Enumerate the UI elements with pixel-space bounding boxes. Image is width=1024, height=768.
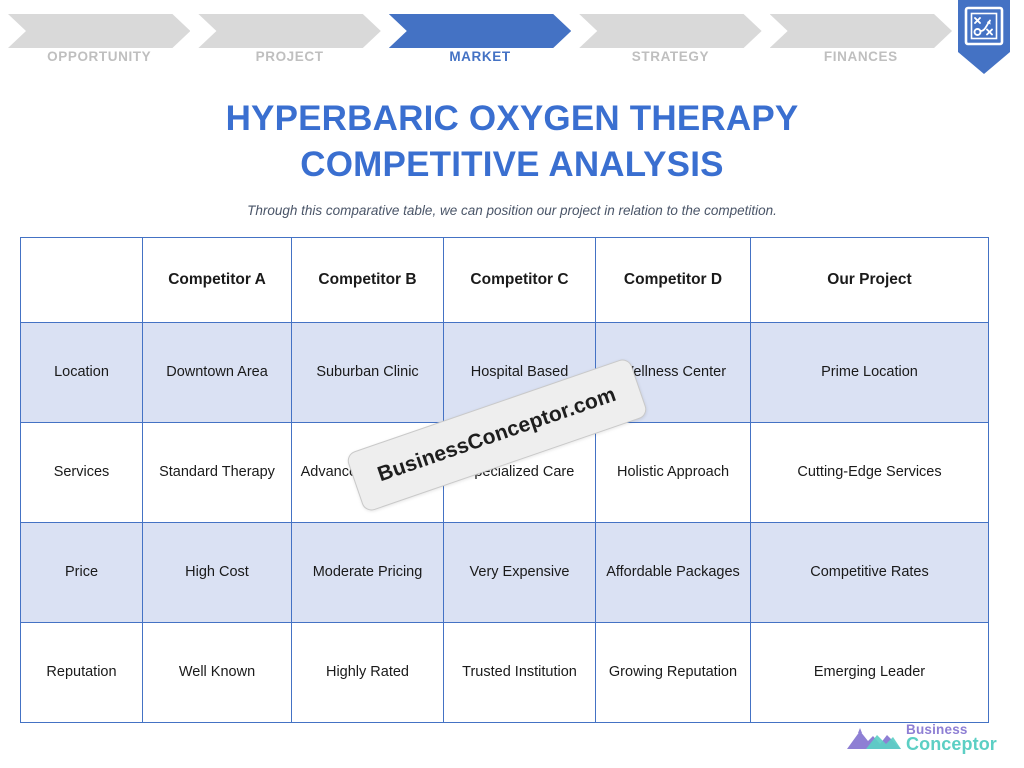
page-title: HYPERBARIC OXYGEN THERAPY COMPETITIVE AN… [62,96,962,188]
cell-services-competitor-b: Advanced Treatment [292,423,444,523]
table-corner-cell [21,238,143,323]
table-header-row: Competitor A Competitor B Competitor C C… [21,238,989,323]
stepper-labels: OPPORTUNITY PROJECT MARKET STRATEGY FINA… [8,46,952,68]
cell-services-competitor-c: Specialized Care [444,423,596,523]
row-header-services: Services [21,423,143,523]
stepper-chevron-market[interactable] [389,14,571,48]
stepper-label-strategy[interactable]: STRATEGY [579,46,761,68]
column-header-competitor-b: Competitor B [292,238,444,323]
page-title-line2: COMPETITIVE ANALYSIS [62,142,962,188]
cell-location-competitor-d: Wellness Center [596,323,751,423]
cell-reputation-our-project: Emerging Leader [751,623,989,723]
cell-location-competitor-b: Suburban Clinic [292,323,444,423]
cell-reputation-competitor-a: Well Known [143,623,292,723]
cell-services-competitor-d: Holistic Approach [596,423,751,523]
table-row: Price High Cost Moderate Pricing Very Ex… [21,523,989,623]
cell-services-our-project: Cutting-Edge Services [751,423,989,523]
stepper-chevron-finances[interactable] [770,14,952,48]
title-block: HYPERBARIC OXYGEN THERAPY COMPETITIVE AN… [62,96,962,220]
stepper-nav: OPPORTUNITY PROJECT MARKET STRATEGY FINA… [0,0,1024,80]
cell-reputation-competitor-c: Trusted Institution [444,623,596,723]
cell-price-competitor-a: High Cost [143,523,292,623]
stepper-chevron-strategy[interactable] [579,14,761,48]
table-row: Reputation Well Known Highly Rated Trust… [21,623,989,723]
cell-price-our-project: Competitive Rates [751,523,989,623]
brand-logo: Business Conceptor [846,720,1008,760]
column-header-competitor-a: Competitor A [143,238,292,323]
stepper-chevrons [8,14,952,48]
cell-reputation-competitor-d: Growing Reputation [596,623,751,723]
stepper-label-opportunity[interactable]: OPPORTUNITY [8,46,190,68]
cell-location-competitor-c: Hospital Based [444,323,596,423]
row-header-reputation: Reputation [21,623,143,723]
cell-price-competitor-d: Affordable Packages [596,523,751,623]
table-row: Services Standard Therapy Advanced Treat… [21,423,989,523]
stepper-chevron-opportunity[interactable] [8,14,190,48]
row-header-location: Location [21,323,143,423]
page-title-line1: HYPERBARIC OXYGEN THERAPY [62,96,962,142]
cell-price-competitor-b: Moderate Pricing [292,523,444,623]
cell-price-competitor-c: Very Expensive [444,523,596,623]
strategy-board-icon [964,6,1004,46]
comparison-table-wrapper: Competitor A Competitor B Competitor C C… [20,237,988,722]
comparison-table: Competitor A Competitor B Competitor C C… [20,237,989,723]
cell-location-competitor-a: Downtown Area [143,323,292,423]
stepper-chevron-project[interactable] [198,14,380,48]
cell-reputation-competitor-b: Highly Rated [292,623,444,723]
strategy-board-pin [958,0,1010,74]
brand-logo-text: Business Conceptor [906,723,997,753]
slide-canvas: OPPORTUNITY PROJECT MARKET STRATEGY FINA… [0,0,1024,768]
table-row: Location Downtown Area Suburban Clinic H… [21,323,989,423]
mountain-icon [846,726,904,752]
stepper-label-market[interactable]: MARKET [389,46,571,68]
cell-location-our-project: Prime Location [751,323,989,423]
stepper-label-finances[interactable]: FINANCES [770,46,952,68]
column-header-competitor-d: Competitor D [596,238,751,323]
row-header-price: Price [21,523,143,623]
column-header-competitor-c: Competitor C [444,238,596,323]
cell-services-competitor-a: Standard Therapy [143,423,292,523]
pin-tip [958,52,1010,74]
column-header-our-project: Our Project [751,238,989,323]
page-subtitle: Through this comparative table, we can p… [62,202,962,220]
brand-logo-conceptor: Conceptor [906,735,997,753]
stepper-label-project[interactable]: PROJECT [198,46,380,68]
